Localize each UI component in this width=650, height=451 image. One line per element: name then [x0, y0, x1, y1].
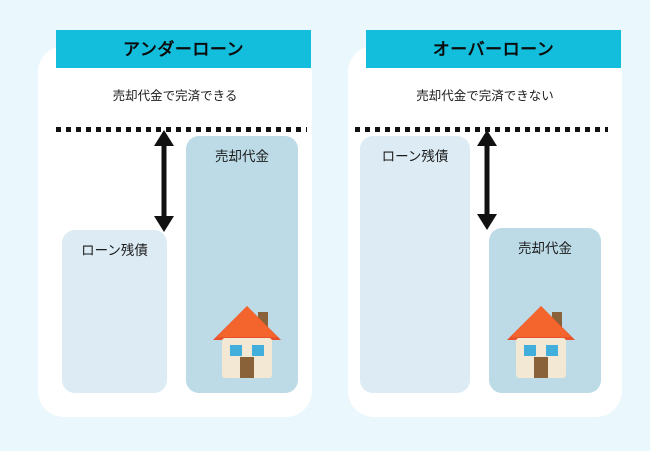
- bar-loan-balance-over-loan: ローン残債: [360, 136, 470, 393]
- house-icon: [505, 300, 577, 382]
- bar-label-loan-balance-under-loan: ローン残債: [62, 244, 167, 258]
- house-icon: [211, 300, 283, 382]
- panel-header-under-loan: アンダーローン: [56, 30, 311, 68]
- bar-loan-balance-under-loan: ローン残債: [62, 230, 167, 393]
- double-arrow-icon: [473, 130, 501, 230]
- bar-label-sale-price-under-loan: 売却代金: [186, 150, 298, 164]
- bar-label-loan-balance-over-loan: ローン残債: [360, 150, 470, 164]
- panel-title-under-loan: アンダーローン: [123, 41, 244, 58]
- baseline-dotted-under-loan: [56, 127, 307, 132]
- panel-header-over-loan: オーバーローン: [366, 30, 621, 68]
- panel-caption-under-loan: 売却代金で完済できる: [38, 90, 312, 103]
- diagram-canvas: アンダーローン 売却代金で完済できる ローン残債 売却代金 オーバーローン 売却…: [0, 0, 650, 451]
- panel-title-over-loan: オーバーローン: [433, 41, 554, 58]
- bar-label-sale-price-over-loan: 売却代金: [489, 242, 601, 256]
- panel-caption-over-loan: 売却代金で完済できない: [348, 90, 622, 103]
- double-arrow-icon: [150, 130, 178, 232]
